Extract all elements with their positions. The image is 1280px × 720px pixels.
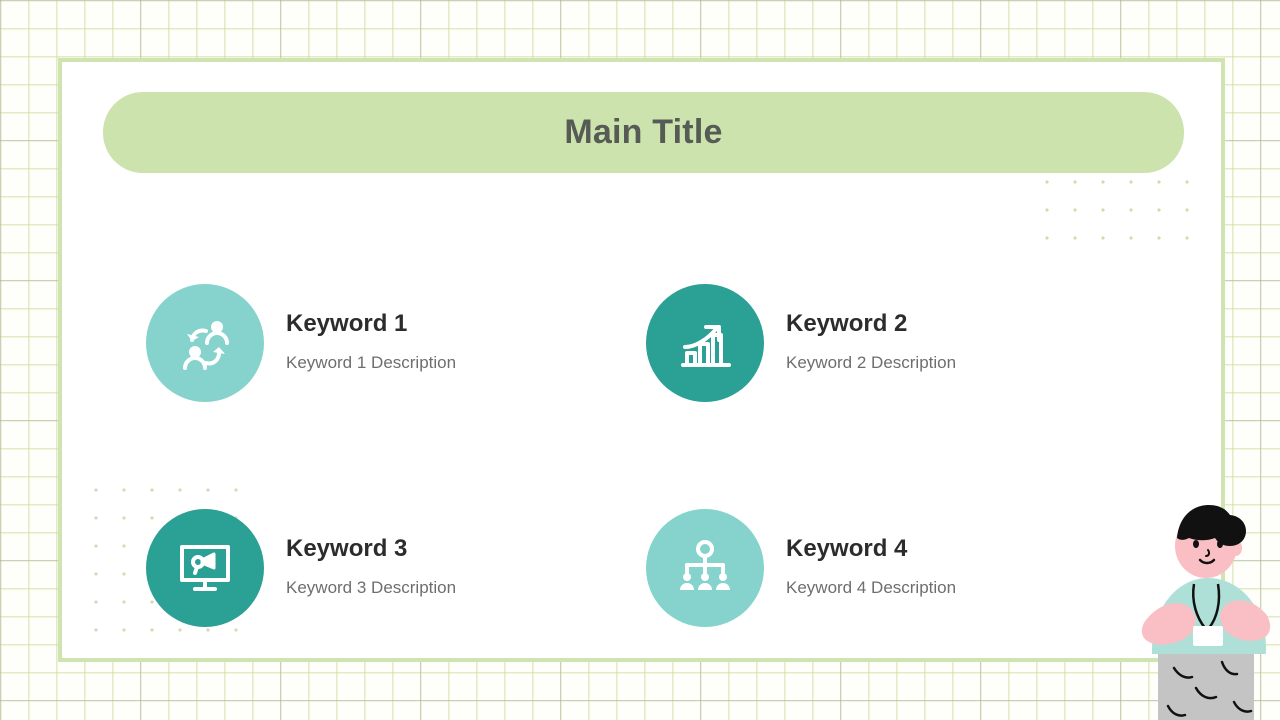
character-illustration	[1130, 490, 1280, 720]
keyword-item-3[interactable]: Keyword 3 Keyword 3 Description	[146, 455, 646, 680]
keyword-text-4: Keyword 4 Keyword 4 Description	[786, 535, 956, 600]
keyword-description-2: Keyword 2 Description	[786, 353, 956, 373]
keyword-description-4: Keyword 4 Description	[786, 578, 956, 598]
growth-bar-chart-icon	[673, 311, 737, 375]
people-exchange-icon	[173, 311, 237, 375]
keyword-text-1: Keyword 1 Keyword 1 Description	[286, 310, 456, 375]
icon-circle-4	[646, 509, 764, 627]
icon-circle-3	[146, 509, 264, 627]
page-title: Main Title	[564, 113, 722, 152]
keyword-title-3: Keyword 3	[286, 535, 456, 564]
icon-circle-2	[646, 284, 764, 402]
slide-canvas: Main Title	[0, 0, 1280, 720]
keyword-text-3: Keyword 3 Keyword 3 Description	[286, 535, 456, 600]
keyword-title-2: Keyword 2	[786, 310, 956, 339]
keyword-item-4[interactable]: Keyword 4 Keyword 4 Description	[646, 455, 1146, 680]
keyword-description-3: Keyword 3 Description	[286, 578, 456, 598]
keyword-title-4: Keyword 4	[786, 535, 956, 564]
icon-circle-1	[146, 284, 264, 402]
keyword-item-1[interactable]: Keyword 1 Keyword 1 Description	[146, 230, 646, 455]
keyword-description-1: Keyword 1 Description	[286, 353, 456, 373]
keyword-item-2[interactable]: Keyword 2 Keyword 2 Description	[646, 230, 1146, 455]
keyword-title-1: Keyword 1	[286, 310, 456, 339]
content-card: Main Title	[58, 58, 1225, 662]
keyword-text-2: Keyword 2 Keyword 2 Description	[786, 310, 956, 375]
title-banner: Main Title	[103, 92, 1184, 173]
org-chart-hierarchy-icon	[673, 536, 737, 600]
keyword-grid: Keyword 1 Keyword 1 Description	[146, 230, 1146, 680]
presentation-megaphone-icon	[173, 536, 237, 600]
